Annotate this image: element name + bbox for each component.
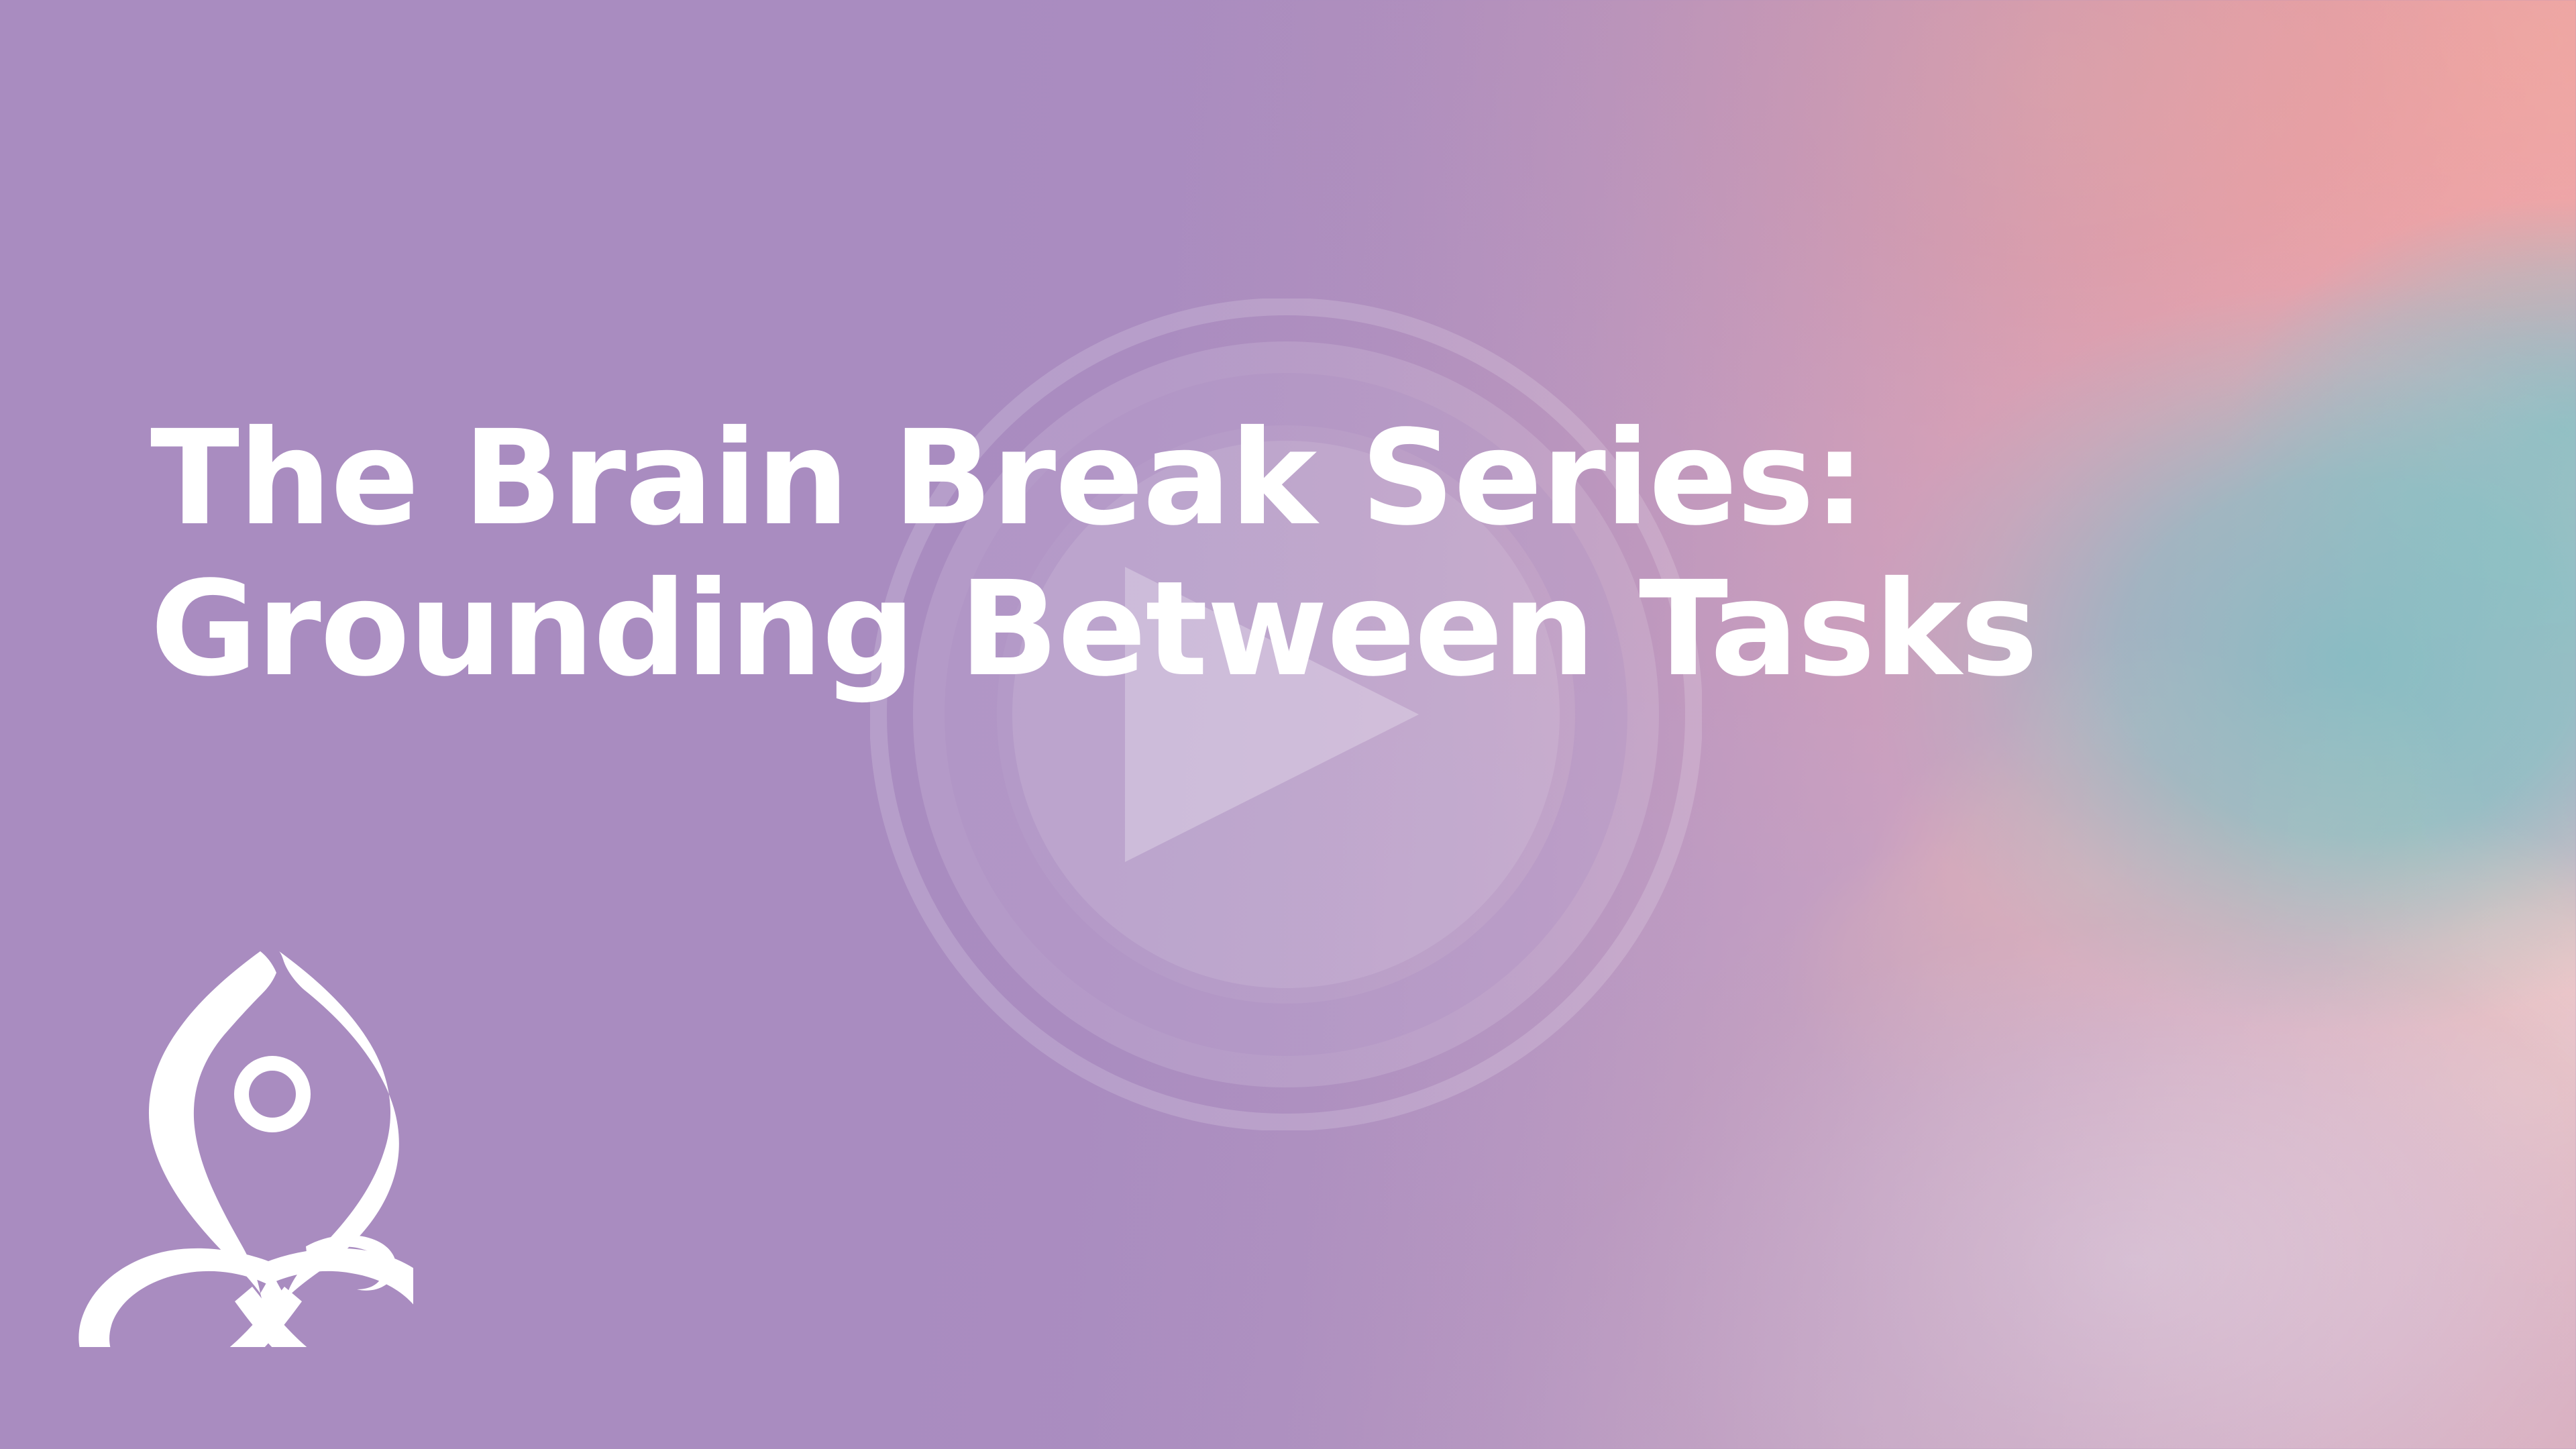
page-title: The Brain Break Series: Grounding Betwee… — [150, 402, 2297, 704]
lotus-meditation-figure-logo — [64, 931, 413, 1347]
title-line-2: Grounding Between Tasks — [150, 553, 2297, 704]
video-thumbnail-card[interactable]: The Brain Break Series: Grounding Betwee… — [0, 0, 2576, 1449]
title-line-1: The Brain Break Series: — [150, 402, 2297, 553]
brand-logo — [64, 931, 413, 1347]
